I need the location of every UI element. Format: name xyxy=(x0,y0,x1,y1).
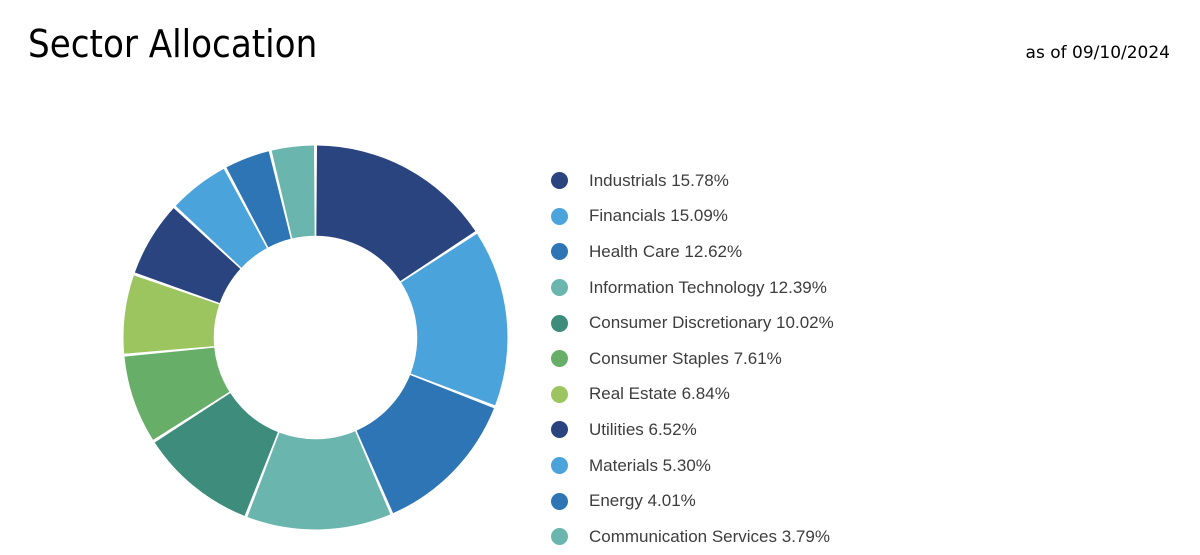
page-header: Sector Allocation as of 09/10/2024 xyxy=(0,0,1200,110)
legend-color-swatch-icon xyxy=(551,457,568,474)
legend-item[interactable]: Consumer Staples 7.61% xyxy=(551,341,1171,377)
legend-item-label: Real Estate 6.84% xyxy=(589,384,730,404)
legend-item[interactable]: Real Estate 6.84% xyxy=(551,377,1171,413)
donut-chart-area xyxy=(0,110,540,543)
sector-allocation-donut-chart xyxy=(113,135,518,540)
legend-color-swatch-icon xyxy=(551,208,568,225)
page-title: Sector Allocation xyxy=(28,22,317,66)
legend-item[interactable]: Energy 4.01% xyxy=(551,483,1171,519)
donut-slice-group xyxy=(123,146,507,530)
legend-item-label: Communication Services 3.79% xyxy=(589,527,830,547)
as-of-date-label: as of 09/10/2024 xyxy=(1026,43,1170,63)
sector-allocation-page: Sector Allocation as of 09/10/2024 Indus… xyxy=(0,0,1200,543)
legend-item-label: Health Care 12.62% xyxy=(589,242,742,262)
sector-legend: Industrials 15.78%Financials 15.09%Healt… xyxy=(551,163,1171,555)
legend-color-swatch-icon xyxy=(551,350,568,367)
legend-item-label: Consumer Discretionary 10.02% xyxy=(589,313,834,333)
legend-color-swatch-icon xyxy=(551,315,568,332)
legend-item-label: Utilities 6.52% xyxy=(589,420,697,440)
legend-item-label: Consumer Staples 7.61% xyxy=(589,349,782,369)
legend-color-swatch-icon xyxy=(551,172,568,189)
legend-item[interactable]: Communication Services 3.79% xyxy=(551,519,1171,555)
legend-color-swatch-icon xyxy=(551,243,568,260)
legend-item-label: Energy 4.01% xyxy=(589,491,696,511)
legend-item-label: Information Technology 12.39% xyxy=(589,278,827,298)
legend-item[interactable]: Industrials 15.78% xyxy=(551,163,1171,199)
legend-color-swatch-icon xyxy=(551,493,568,510)
legend-item-label: Financials 15.09% xyxy=(589,206,728,226)
legend-item-label: Industrials 15.78% xyxy=(589,171,729,191)
legend-item-label: Materials 5.30% xyxy=(589,456,711,476)
legend-color-swatch-icon xyxy=(551,386,568,403)
legend-color-swatch-icon xyxy=(551,421,568,438)
legend-color-swatch-icon xyxy=(551,279,568,296)
legend-item[interactable]: Utilities 6.52% xyxy=(551,412,1171,448)
legend-item[interactable]: Financials 15.09% xyxy=(551,199,1171,235)
legend-item[interactable]: Materials 5.30% xyxy=(551,448,1171,484)
legend-item[interactable]: Health Care 12.62% xyxy=(551,234,1171,270)
legend-item[interactable]: Information Technology 12.39% xyxy=(551,270,1171,306)
legend-item[interactable]: Consumer Discretionary 10.02% xyxy=(551,305,1171,341)
